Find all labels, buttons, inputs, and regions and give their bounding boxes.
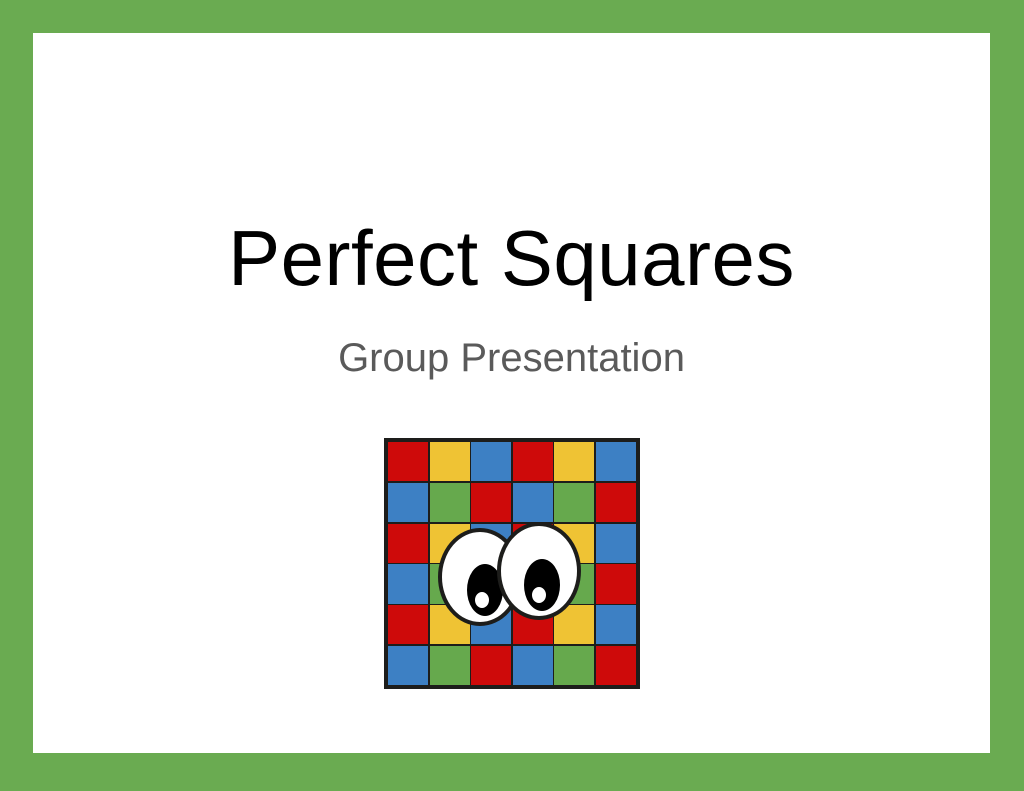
color-grid-cell-blue bbox=[388, 483, 428, 522]
slide-frame: Perfect Squares Group Presentation bbox=[0, 0, 1024, 791]
color-grid-cell-yellow bbox=[554, 605, 594, 644]
color-grid-cell-blue bbox=[471, 442, 511, 481]
color-grid-cell-yellow bbox=[554, 442, 594, 481]
color-grid-cell-blue bbox=[471, 524, 511, 563]
color-grid-cell-green bbox=[430, 564, 470, 603]
color-grid-cell-red bbox=[513, 605, 553, 644]
color-grid-cell-red bbox=[471, 483, 511, 522]
color-grid-cell-green bbox=[430, 646, 470, 685]
subtitle-block: Group Presentation bbox=[33, 336, 990, 380]
color-grid bbox=[384, 438, 640, 689]
page-subtitle: Group Presentation bbox=[33, 336, 990, 380]
color-grid-cell-green bbox=[430, 483, 470, 522]
color-grid-cell-blue bbox=[596, 605, 636, 644]
page-title: Perfect Squares bbox=[33, 218, 990, 300]
color-grid-cell-yellow bbox=[554, 524, 594, 563]
slide-canvas: Perfect Squares Group Presentation bbox=[33, 33, 990, 753]
color-grid-cell-red bbox=[513, 442, 553, 481]
color-grid-cell-red bbox=[388, 605, 428, 644]
color-grid-cell-blue bbox=[596, 524, 636, 563]
color-grid-cell-yellow bbox=[430, 442, 470, 481]
color-grid-rows bbox=[388, 442, 636, 685]
color-grid-cell-blue bbox=[388, 646, 428, 685]
color-grid-row bbox=[388, 442, 636, 481]
color-grid-row bbox=[388, 524, 636, 563]
color-grid-cell-blue bbox=[513, 483, 553, 522]
color-grid-cell-red bbox=[388, 524, 428, 563]
color-grid-row bbox=[388, 605, 636, 644]
color-grid-cell-blue bbox=[471, 605, 511, 644]
color-grid-cell-green bbox=[554, 483, 594, 522]
color-grid-row bbox=[388, 564, 636, 603]
color-grid-cell-red bbox=[513, 524, 553, 563]
color-grid-cell-blue bbox=[596, 442, 636, 481]
color-grid-cell-red bbox=[471, 564, 511, 603]
color-grid-cell-yellow bbox=[430, 605, 470, 644]
color-grid-cell-red bbox=[471, 646, 511, 685]
color-grid-cell-blue bbox=[513, 564, 553, 603]
color-grid-cell-green bbox=[554, 564, 594, 603]
color-grid-cell-red bbox=[596, 646, 636, 685]
color-grid-cell-yellow bbox=[430, 524, 470, 563]
color-grid-cell-blue bbox=[513, 646, 553, 685]
color-grid-row bbox=[388, 483, 636, 522]
color-grid-row bbox=[388, 646, 636, 685]
color-grid-cell-red bbox=[596, 564, 636, 603]
perfect-square-character-image bbox=[384, 438, 640, 689]
color-grid-cell-green bbox=[554, 646, 594, 685]
color-grid-cell-red bbox=[596, 483, 636, 522]
title-block: Perfect Squares bbox=[33, 218, 990, 300]
color-grid-cell-red bbox=[388, 442, 428, 481]
color-grid-cell-blue bbox=[388, 564, 428, 603]
